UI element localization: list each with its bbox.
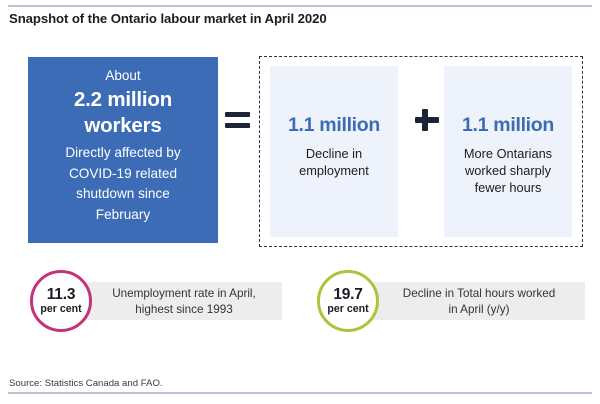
stat-row-hours-description-line1: Decline in Total hours worked xyxy=(379,286,579,302)
main-stat-headline: 2.2 million workers xyxy=(36,87,210,138)
main-stat-description-line1: Directly affected by xyxy=(36,143,210,164)
stat-row-unemployment: Unemployment rate in April, highest sinc… xyxy=(30,282,282,320)
stat-badge-hours-unit: per cent xyxy=(320,303,376,316)
plus-icon-bar-vertical xyxy=(422,109,428,131)
stat-badge-unemployment-number: 11.3 xyxy=(33,286,89,303)
stat-badge-hours: 19.7 per cent xyxy=(317,270,379,332)
main-stat-description-line3: shutdown since xyxy=(36,184,210,205)
source-note: Source: Statistics Canada and FAO. xyxy=(9,378,163,389)
stat-row-hours: Decline in Total hours worked in April (… xyxy=(317,282,585,320)
stat-row-unemployment-description-line1: Unemployment rate in April, xyxy=(92,286,276,302)
stat-row-hours-description: Decline in Total hours worked in April (… xyxy=(379,286,579,317)
main-stat-headline-line1: 2.2 million xyxy=(36,87,210,113)
stat-badge-unemployment-unit: per cent xyxy=(33,303,89,316)
stat-row-unemployment-description-line2: highest since 1993 xyxy=(92,302,276,318)
main-stat-description: Directly affected by COVID-19 related sh… xyxy=(36,143,210,225)
equals-icon xyxy=(222,105,254,135)
stat-row-hours-description-line2: in April (y/y) xyxy=(379,302,579,318)
breakdown-panel-employment-caption-line2: employment xyxy=(274,162,394,179)
breakdown-panel-hours: 1.1 million More Ontarians worked sharpl… xyxy=(444,66,572,237)
breakdown-panel-hours-value: 1.1 million xyxy=(444,114,572,136)
main-stat-description-line4: February xyxy=(36,205,210,226)
stat-badge-hours-number: 19.7 xyxy=(320,286,376,303)
bottom-divider xyxy=(8,392,592,394)
breakdown-panel-hours-caption-line1: More Ontarians xyxy=(448,145,568,162)
breakdown-panel-employment-value: 1.1 million xyxy=(270,114,398,136)
breakdown-panel-hours-caption-line3: fewer hours xyxy=(448,179,568,196)
equals-icon-bar-top xyxy=(225,112,250,117)
breakdown-panel-hours-caption-line2: worked sharply xyxy=(448,162,568,179)
main-stat-card: About 2.2 million workers Directly affec… xyxy=(28,57,218,243)
top-divider xyxy=(8,5,592,7)
page-title: Snapshot of the Ontario labour market in… xyxy=(9,11,579,26)
breakdown-panel-employment-caption-line1: Decline in xyxy=(274,145,394,162)
equals-icon-bar-bottom xyxy=(225,123,250,128)
breakdown-panel-hours-caption: More Ontarians worked sharply fewer hour… xyxy=(444,145,572,196)
stat-row-unemployment-description: Unemployment rate in April, highest sinc… xyxy=(92,286,276,317)
main-stat-headline-line2: workers xyxy=(36,113,210,139)
breakdown-panel-employment: 1.1 million Decline in employment xyxy=(270,66,398,237)
breakdown-container: 1.1 million Decline in employment 1.1 mi… xyxy=(259,56,583,247)
stat-badge-unemployment: 11.3 per cent xyxy=(30,270,92,332)
breakdown-panel-employment-caption: Decline in employment xyxy=(270,145,398,179)
main-stat-about-label: About xyxy=(36,66,210,85)
infographic-canvas: Snapshot of the Ontario labour market in… xyxy=(0,0,600,404)
plus-icon xyxy=(413,106,441,134)
main-stat-description-line2: COVID-19 related xyxy=(36,164,210,185)
